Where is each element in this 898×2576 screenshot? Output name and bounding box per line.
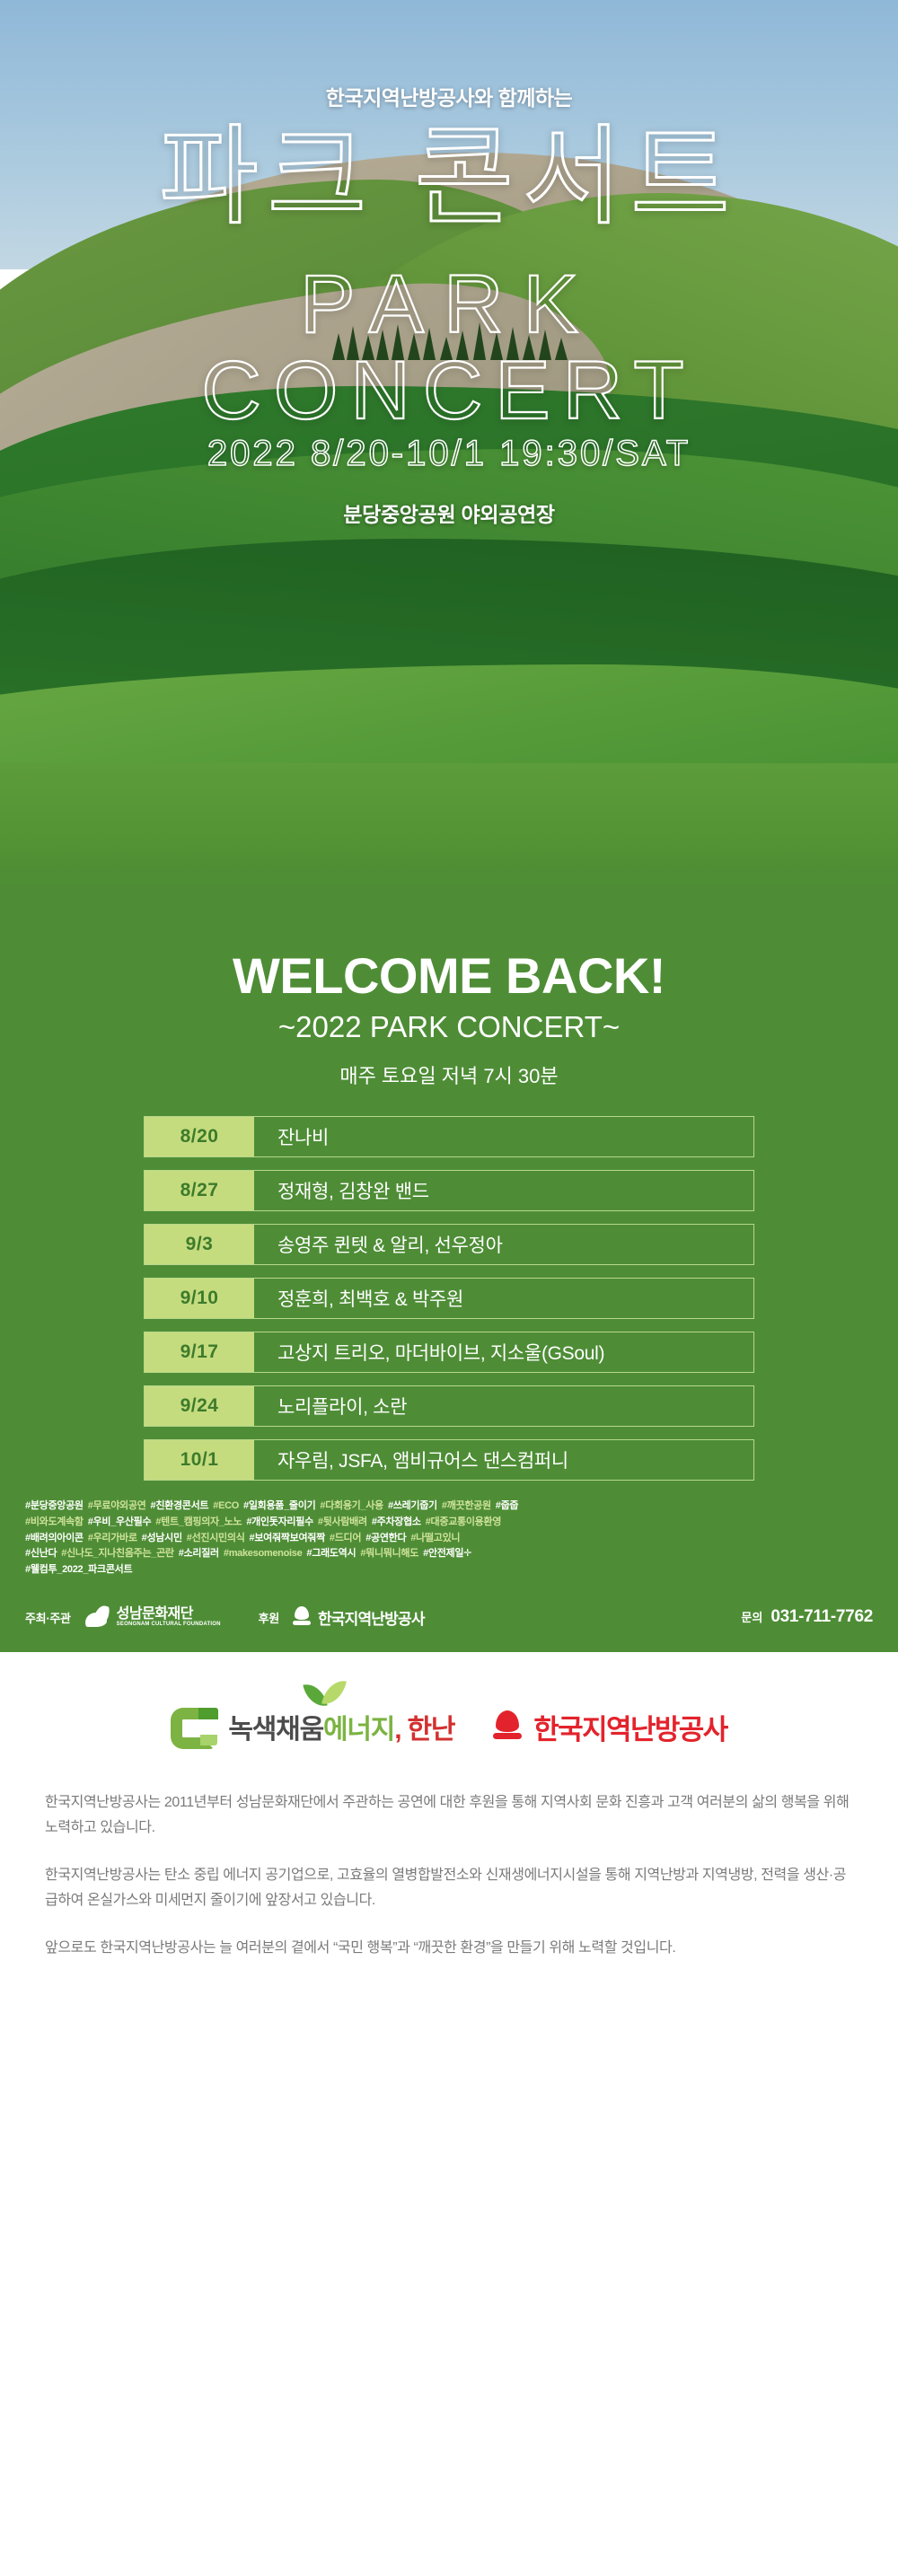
poster-title-park: PARK	[0, 258, 898, 352]
schedule-artists: 잔나비	[254, 1117, 753, 1156]
hashtag: #나떨고있니	[410, 1533, 460, 1543]
foundation-leaf-icon	[84, 1605, 110, 1629]
kdhc-flame-icon	[292, 1606, 312, 1628]
footer-paragraph: 한국지역난방공사는 탄소 중립 에너지 공기업으로, 고효율의 열병합발전소와 …	[45, 1863, 853, 1912]
green-energy-logo-text: 녹색채움에너지, 한난	[228, 1707, 454, 1746]
hashtag: #일회용품_줄이기	[243, 1500, 315, 1511]
seongnam-cultural-foundation-logo: 성남문화재단 SEONGNAM CULTURAL FOUNDATION	[84, 1605, 221, 1629]
schedule-artists: 노리플라이, 소란	[254, 1386, 753, 1426]
hashtag: #친환경콘서트	[151, 1500, 209, 1511]
kdhc-logo-red: 한국지역난방공사	[492, 1707, 726, 1747]
schedule-row: 9/24노리플라이, 소란	[144, 1385, 754, 1427]
hashtag: #줍줍	[496, 1500, 518, 1511]
support-label: 후원	[259, 1609, 279, 1626]
kdhc-logo-white: 한국지역난방공사	[292, 1606, 425, 1629]
schedule-artists: 송영주 퀸텟 & 알리, 선우정아	[254, 1225, 753, 1264]
contact-block: 문의 031-711-7762	[741, 1607, 873, 1627]
hashtag: #우리가바로	[88, 1533, 137, 1543]
hashtag: #ECO	[213, 1500, 239, 1511]
schedule-date: 9/10	[145, 1279, 254, 1318]
hashtag: #그래도역시	[306, 1548, 356, 1559]
hero-date-range: 2022 8/20-10/1 19:30/SAT	[0, 434, 898, 474]
footer-paragraph: 앞으로도 한국지역난방공사는 늘 여러분의 곁에서 “국민 행복”과 “깨끗한 …	[45, 1936, 853, 1961]
hashtag: #드디어	[330, 1533, 361, 1543]
g-letter-icon	[171, 1702, 219, 1751]
kdhc-red-flame-icon	[492, 1710, 523, 1743]
hashtag: #공연한다	[365, 1533, 406, 1543]
footer-section: 녹색채움에너지, 한난 한국지역난방공사 한국지역난방공사는 2011년부터 성…	[0, 1652, 898, 2015]
leaf-icon	[305, 1679, 350, 1706]
schedule-table: 8/20잔나비8/27정재형, 김창완 밴드9/3송영주 퀸텟 & 알리, 선우…	[144, 1116, 754, 1481]
hashtag: #배려의아이콘	[25, 1533, 84, 1543]
hashtag: #선진시민의식	[187, 1533, 245, 1543]
poster-root: 한국지역난방공사와 함께하는 파크 콘서트 PARK CONCERT 2022 …	[0, 0, 898, 2576]
schedule-artists: 정훈희, 최백호 & 박주원	[254, 1279, 753, 1318]
schedule-row: 8/20잔나비	[144, 1116, 754, 1157]
schedule-artists: 자우림, JSFA, 앰비규어스 댄스컴퍼니	[254, 1440, 753, 1480]
hero-kicker: 한국지역난방공사와 함께하는	[0, 81, 898, 111]
hashtag-line: #신난다#신나도_지나친음주는_곤란#소리질러#makesomenoise#그래…	[25, 1546, 873, 1562]
green-energy-logo: 녹색채움에너지, 한난	[171, 1702, 454, 1751]
hero-text-block: 한국지역난방공사와 함께하는 파크 콘서트 PARK CONCERT 2022 …	[0, 0, 898, 898]
hashtag: #우비_우산필수	[88, 1517, 152, 1527]
welcome-title: WELCOME BACK!	[0, 898, 898, 1005]
schedule-row: 10/1자우림, JSFA, 앰비규어스 댄스컴퍼니	[144, 1439, 754, 1481]
schedule-date: 8/20	[145, 1117, 254, 1156]
schedule-date: 9/17	[145, 1332, 254, 1372]
host-name-kr: 성남문화재단	[117, 1606, 193, 1622]
schedule-date: 8/27	[145, 1171, 254, 1210]
footer-logo-row: 녹색채움에너지, 한난 한국지역난방공사	[0, 1702, 898, 1751]
schedule-date: 9/24	[145, 1386, 254, 1426]
hashtag: #개인돗자리필수	[246, 1517, 313, 1527]
welcome-subtitle: ~2022 PARK CONCERT~	[0, 1010, 898, 1044]
host-label: 주최·주관	[25, 1609, 71, 1626]
schedule-date: 10/1	[145, 1440, 254, 1480]
hashtag: #분당중앙공원	[25, 1500, 84, 1511]
hashtag: #안전제일✛	[423, 1548, 471, 1559]
hashtag: #텐트_캠핑의자_노노	[155, 1517, 242, 1527]
contact-number[interactable]: 031-711-7762	[770, 1607, 873, 1627]
schedule-date: 9/3	[145, 1225, 254, 1264]
hashtag-block: #분당중앙공원#무료야외공연#친환경콘서트#ECO#일회용품_줄이기#다회용기_…	[25, 1499, 873, 1578]
logo-green-part3: , 한난	[394, 1715, 454, 1745]
hashtag: #다회용기_사용	[320, 1500, 383, 1511]
hashtag-line: #분당중앙공원#무료야외공연#친환경콘서트#ECO#일회용품_줄이기#다회용기_…	[25, 1499, 873, 1515]
welcome-time: 매주 토요일 저녁 7시 30분	[0, 1060, 898, 1089]
schedule-row: 9/3송영주 퀸텟 & 알리, 선우정아	[144, 1224, 754, 1265]
contact-label: 문의	[741, 1608, 762, 1625]
hashtag: #웰컴투_2022_파크콘서트	[25, 1564, 132, 1575]
schedule-artists: 정재형, 김창완 밴드	[254, 1171, 753, 1210]
info-section: WELCOME BACK! ~2022 PARK CONCERT~ 매주 토요일…	[0, 898, 898, 1652]
schedule-row: 9/17고상지 트리오, 마더바이브, 지소울(GSoul)	[144, 1332, 754, 1373]
hashtag-line: #비와도계속함#우비_우산필수#텐트_캠핑의자_노노#개인돗자리필수#뒷사람배려…	[25, 1515, 873, 1531]
poster-title-concert: CONCERT	[0, 344, 898, 438]
hashtag: #보여줘짝보여줘짝	[250, 1533, 325, 1543]
support-name: 한국지역난방공사	[318, 1606, 425, 1629]
poster-title-korean: 파크 콘서트	[0, 115, 898, 239]
logo-green-part1: 녹색채움	[228, 1715, 323, 1745]
footer-paragraphs: 한국지역난방공사는 2011년부터 성남문화재단에서 주관하는 공연에 대한 후…	[45, 1790, 853, 1961]
hashtag-line: #웰컴투_2022_파크콘서트	[25, 1562, 873, 1578]
schedule-artists: 고상지 트리오, 마더바이브, 지소울(GSoul)	[254, 1332, 753, 1372]
hashtag: #신난다	[25, 1548, 57, 1559]
schedule-row: 9/10정훈희, 최백호 & 박주원	[144, 1278, 754, 1319]
hashtag-line: #배려의아이콘#우리가바로#성남시민#선진시민의식#보여줘짝보여줘짝#드디어#공…	[25, 1531, 873, 1547]
hero-section: 한국지역난방공사와 함께하는 파크 콘서트 PARK CONCERT 2022 …	[0, 0, 898, 898]
hashtag: #신나도_지나친음주는_곤란	[61, 1548, 173, 1559]
hashtag: #뭐니뭐니해도	[360, 1548, 418, 1559]
hashtag: #비와도계속함	[25, 1517, 84, 1527]
sponsors-row: 주최·주관 성남문화재단 SEONGNAM CULTURAL FOUNDATIO…	[25, 1605, 873, 1629]
footer-paragraph: 한국지역난방공사는 2011년부터 성남문화재단에서 주관하는 공연에 대한 후…	[45, 1790, 853, 1840]
hashtag: #makesomenoise	[224, 1548, 303, 1559]
hero-venue: 분당중앙공원 야외공연장	[0, 497, 898, 528]
host-name-en: SEONGNAM CULTURAL FOUNDATION	[117, 1622, 221, 1627]
kdhc-logo-text: 한국지역난방공사	[533, 1707, 726, 1747]
schedule-row: 8/27정재형, 김창완 밴드	[144, 1170, 754, 1211]
hashtag: #대중교통이용환영	[426, 1517, 501, 1527]
hashtag: #주차장협소	[372, 1517, 421, 1527]
hashtag: #소리질러	[179, 1548, 219, 1559]
hashtag: #쓰레기줍기	[388, 1500, 437, 1511]
hashtag: #성남시민	[142, 1533, 182, 1543]
hashtag: #깨끗한공원	[442, 1500, 491, 1511]
logo-green-part2: 에너지	[323, 1715, 394, 1745]
hashtag: #뒷사람배려	[318, 1517, 367, 1527]
hashtag: #무료야외공연	[88, 1500, 146, 1511]
